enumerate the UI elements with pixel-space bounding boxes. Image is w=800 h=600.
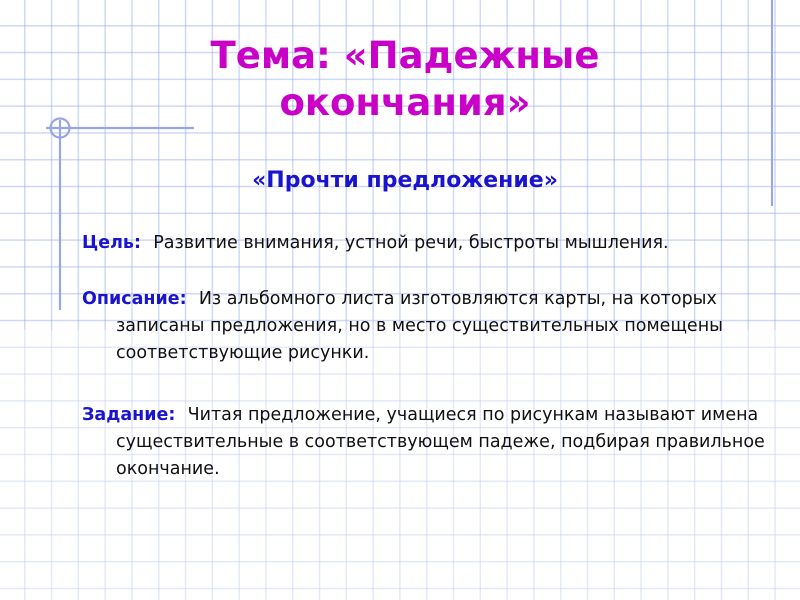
slide-title-line-1: Тема: «Падежные — [211, 34, 600, 77]
paragraph-task: Задание:Читая предложение, учащиеся по р… — [82, 402, 776, 483]
margin-rule-right — [771, 0, 773, 206]
decoration-circle — [51, 119, 70, 138]
slide-canvas: Тема: «Падежные окончания» «Прочти предл… — [0, 0, 800, 600]
paragraph-description-text: Из альбомного листа изготовляются карты,… — [116, 289, 723, 363]
paragraph-task-text: Читая предложение, учащиеся по рисункам … — [116, 405, 765, 479]
paragraph-goal-text: Развитие внимания, устной речи, быстроты… — [153, 233, 668, 253]
slide-title: Тема: «Падежные окончания» — [80, 32, 730, 126]
slide-title-line-2: окончания» — [279, 81, 530, 124]
paragraph-description-lead: Описание: — [82, 289, 199, 309]
paragraph-goal: Цель:Развитие внимания, устной речи, быс… — [82, 230, 776, 257]
paragraph-goal-lead: Цель: — [82, 233, 153, 253]
paragraph-task-lead: Задание: — [82, 405, 188, 425]
paragraph-description: Описание:Из альбомного листа изготовляют… — [82, 286, 776, 367]
slide-subtitle: «Прочти предложение» — [80, 168, 730, 193]
